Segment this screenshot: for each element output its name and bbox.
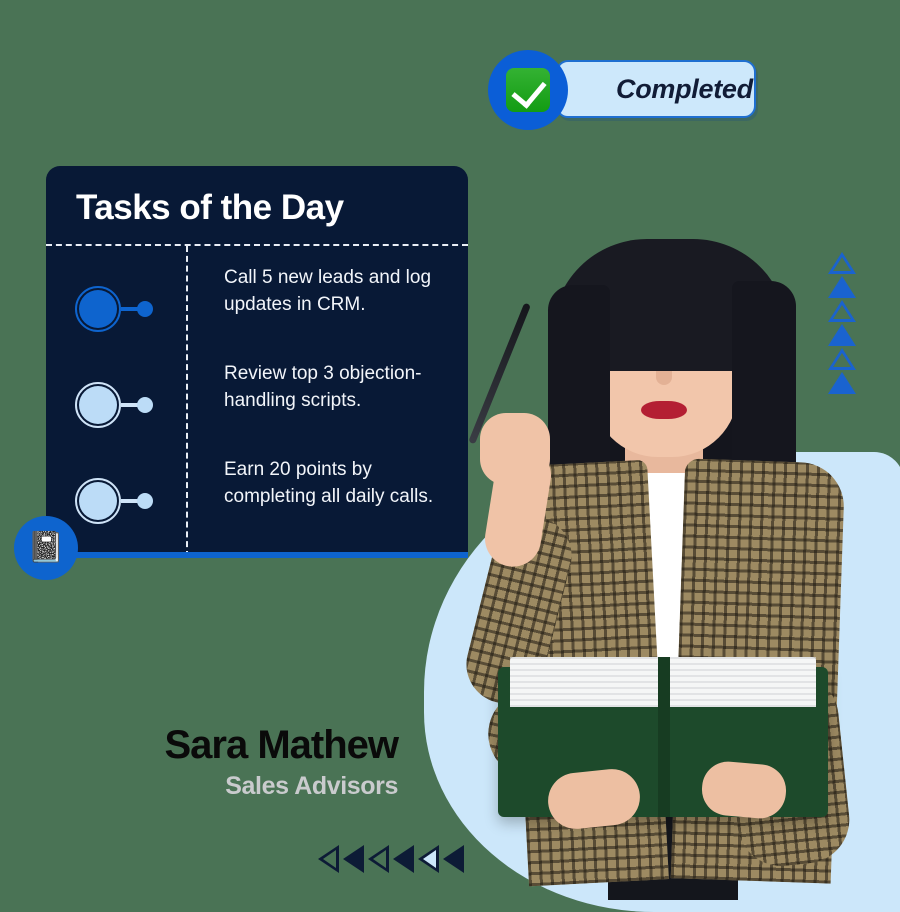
decor-arrow-strip xyxy=(318,845,464,873)
task-marker-cell[interactable] xyxy=(46,358,186,454)
marker-endpoint xyxy=(137,301,153,317)
marker-ring xyxy=(75,286,121,332)
hand-holding-pen xyxy=(480,413,550,485)
profile-role: Sales Advisors xyxy=(0,770,398,802)
title-divider xyxy=(46,244,468,246)
task-label: Earn 20 points by completing all daily c… xyxy=(186,454,468,510)
list-item[interactable]: Call 5 new leads and log updates in CRM. xyxy=(46,262,468,358)
triangle-up-filled-icon xyxy=(828,276,856,298)
arrow-left-filled-icon xyxy=(443,845,464,873)
arrow-left-filled-icon xyxy=(343,845,364,873)
triangle-up-outline-icon xyxy=(828,348,856,370)
notebook-spine xyxy=(658,657,670,817)
arrow-left-outline-icon xyxy=(368,845,389,873)
marker-ring xyxy=(75,478,121,524)
check-mark-button-icon xyxy=(488,50,568,130)
task-status-marker-icon[interactable] xyxy=(75,290,157,330)
arrow-left-filled-icon xyxy=(393,845,414,873)
profile-name-block: Sara Mathew Sales Advisors xyxy=(0,722,398,802)
marker-endpoint xyxy=(137,397,153,413)
list-item[interactable]: Earn 20 points by completing all daily c… xyxy=(46,454,468,550)
task-status-marker-icon[interactable] xyxy=(75,386,157,426)
triangle-up-filled-icon xyxy=(828,372,856,394)
notebook-glyph: 📓 xyxy=(27,533,64,563)
arrow-left-outline-icon xyxy=(318,845,339,873)
task-list: Call 5 new leads and log updates in CRM.… xyxy=(46,262,468,550)
profile-name: Sara Mathew xyxy=(0,722,398,768)
list-item[interactable]: Review top 3 objection-handling scripts. xyxy=(46,358,468,454)
triangle-up-outline-icon xyxy=(828,300,856,322)
marker-ring xyxy=(75,382,121,428)
task-marker-cell[interactable] xyxy=(46,262,186,358)
task-label: Review top 3 objection-handling scripts. xyxy=(186,358,468,414)
spiral-notebook-icon[interactable]: 📓 xyxy=(14,516,78,580)
decor-triangle-stack xyxy=(820,252,864,394)
tasks-card: Tasks of the Day Call 5 new leads and lo… xyxy=(46,166,468,557)
hand-right xyxy=(700,759,788,820)
status-badge-pill[interactable]: Completed xyxy=(556,60,756,118)
triangle-up-outline-icon xyxy=(828,252,856,274)
triangle-up-filled-icon xyxy=(828,324,856,346)
status-badge-label: Completed xyxy=(616,74,753,105)
card-accent-bar xyxy=(46,552,468,558)
task-status-marker-icon[interactable] xyxy=(75,482,157,522)
arrow-left-outline-icon xyxy=(418,845,439,873)
marker-endpoint xyxy=(137,493,153,509)
task-label: Call 5 new leads and log updates in CRM. xyxy=(186,262,468,318)
lips xyxy=(641,401,687,419)
page-title: Tasks of the Day xyxy=(46,166,468,228)
check-glyph xyxy=(506,68,550,112)
